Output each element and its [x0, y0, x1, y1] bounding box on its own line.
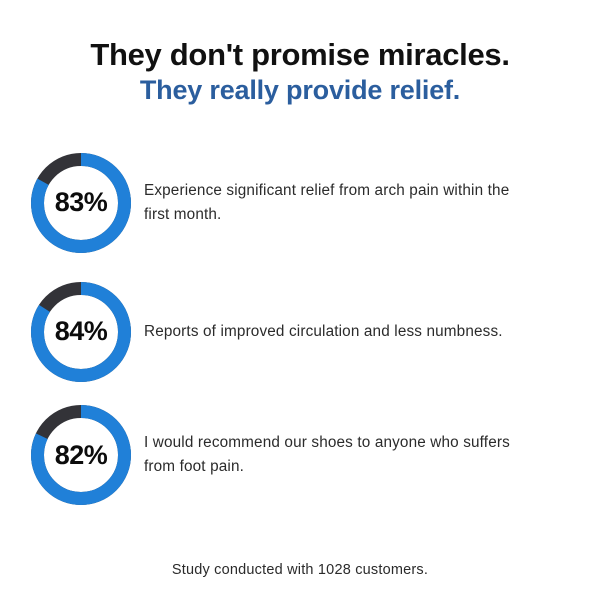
stat-description: Experience significant relief from arch … — [144, 179, 534, 227]
donut-chart-83: 83% — [31, 153, 131, 253]
stat-description: I would recommend our shoes to anyone wh… — [144, 431, 534, 479]
stat-row: 83% Experience significant relief from a… — [31, 138, 600, 267]
donut-percent-label: 82% — [31, 405, 131, 505]
stat-row: 82% I would recommend our shoes to anyon… — [31, 396, 600, 514]
donut-chart-84: 84% — [31, 282, 131, 382]
donut-chart-82: 82% — [31, 405, 131, 505]
donut-percent-label: 83% — [31, 153, 131, 253]
page-title: They don't promise miracles. They really… — [0, 0, 600, 108]
stat-description: Reports of improved circulation and less… — [144, 320, 503, 344]
infographic-root: They don't promise miracles. They really… — [0, 0, 600, 600]
study-footnote: Study conducted with 1028 customers. — [0, 562, 600, 578]
headline-line-2: They really provide relief. — [0, 73, 600, 109]
stat-list: 83% Experience significant relief from a… — [0, 138, 600, 514]
donut-percent-label: 84% — [31, 282, 131, 382]
stat-row: 84% Reports of improved circulation and … — [31, 267, 600, 396]
headline-line-1: They don't promise miracles. — [0, 38, 600, 73]
